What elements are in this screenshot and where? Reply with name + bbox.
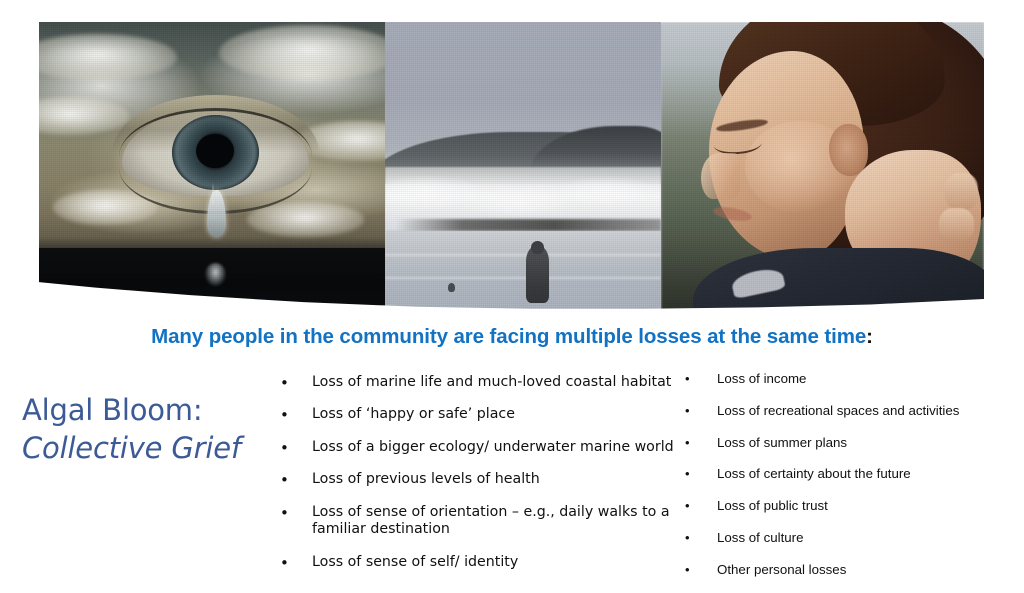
lone-figure-head: [531, 241, 544, 254]
list-item: •Loss of sense of self/ identity: [280, 554, 680, 572]
bullet-icon: •: [685, 403, 695, 420]
bullet-icon: •: [685, 498, 695, 515]
page-title: Algal Bloom: Collective Grief: [22, 392, 272, 467]
banner-image-eye-in-clouds-with-tear: [39, 22, 385, 312]
bullet-icon: •: [280, 439, 290, 457]
bullet-icon: •: [280, 554, 290, 572]
list-item: •Loss of certainty about the future: [685, 466, 1005, 483]
list-item: •Loss of a bigger ecology/ underwater ma…: [280, 439, 680, 457]
cloud-shape: [219, 25, 385, 80]
sand-streak: [385, 277, 661, 279]
list-item-label: Loss of income: [717, 371, 1005, 388]
bullet-icon: •: [280, 504, 290, 522]
bullet-icon: •: [280, 374, 290, 392]
list-item-label: Loss of certainty about the future: [717, 466, 1005, 483]
bullet-icon: •: [685, 371, 695, 388]
list-item-label: Loss of sense of self/ identity: [312, 554, 680, 572]
ear: [829, 124, 868, 176]
bullet-icon: •: [685, 466, 695, 483]
bullet-icon: •: [685, 530, 695, 547]
list-item-label: Loss of previous levels of health: [312, 471, 680, 489]
list-item: •Loss of summer plans: [685, 435, 1005, 452]
list-item: •Loss of sense of orientation – e.g., da…: [280, 504, 680, 540]
finger: [945, 173, 977, 211]
sand-streak: [385, 254, 661, 256]
list-item: •Loss of public trust: [685, 498, 1005, 515]
list-item-label: Loss of summer plans: [717, 435, 1005, 452]
list-item-label: Loss of ‘happy or safe’ place: [312, 406, 680, 424]
banner-wave-clip: [39, 22, 984, 312]
list-item: •Loss of previous levels of health: [280, 471, 680, 489]
lone-figure: [526, 245, 549, 303]
headline-text: Many people in the community are facing …: [151, 325, 866, 348]
list-item: •Loss of income: [685, 371, 1005, 388]
seaweed-line: [396, 219, 661, 231]
nose: [701, 153, 740, 199]
list-item-label: Loss of a bigger ecology/ underwater mar…: [312, 439, 680, 457]
bullet-icon: •: [685, 435, 695, 452]
title-line-1: Algal Bloom:: [22, 392, 272, 430]
image-banner: [39, 22, 984, 312]
list-item: •Loss of marine life and much-loved coas…: [280, 374, 680, 392]
losses-list-left: •Loss of marine life and much-loved coas…: [280, 374, 680, 586]
finger: [939, 208, 975, 243]
list-item-label: Loss of public trust: [717, 498, 1005, 515]
banner-image-grey-beach-lone-figure: [385, 22, 661, 312]
bullet-icon: •: [280, 471, 290, 489]
list-item-label: Loss of recreational spaces and activiti…: [717, 403, 1005, 420]
wet-sand: [385, 231, 661, 312]
headline: Many people in the community are facing …: [0, 325, 1024, 349]
list-item: •Loss of ‘happy or safe’ place: [280, 406, 680, 424]
list-item-label: Loss of culture: [717, 530, 1005, 547]
losses-list-right: •Loss of income•Loss of recreational spa…: [685, 371, 1005, 593]
title-line-2: Collective Grief: [22, 430, 272, 468]
list-item: •Loss of culture: [685, 530, 1005, 547]
headline-colon: :: [866, 325, 873, 348]
list-item-label: Loss of sense of orientation – e.g., dai…: [312, 504, 680, 540]
banner-image-woman-profile-eyes-closed: [661, 22, 984, 312]
bullet-icon: •: [280, 406, 290, 424]
shore-bird: [448, 283, 455, 292]
water-reflection: [205, 263, 226, 286]
list-item-label: Loss of marine life and much-loved coast…: [312, 374, 680, 392]
list-item: •Loss of recreational spaces and activit…: [685, 403, 1005, 420]
